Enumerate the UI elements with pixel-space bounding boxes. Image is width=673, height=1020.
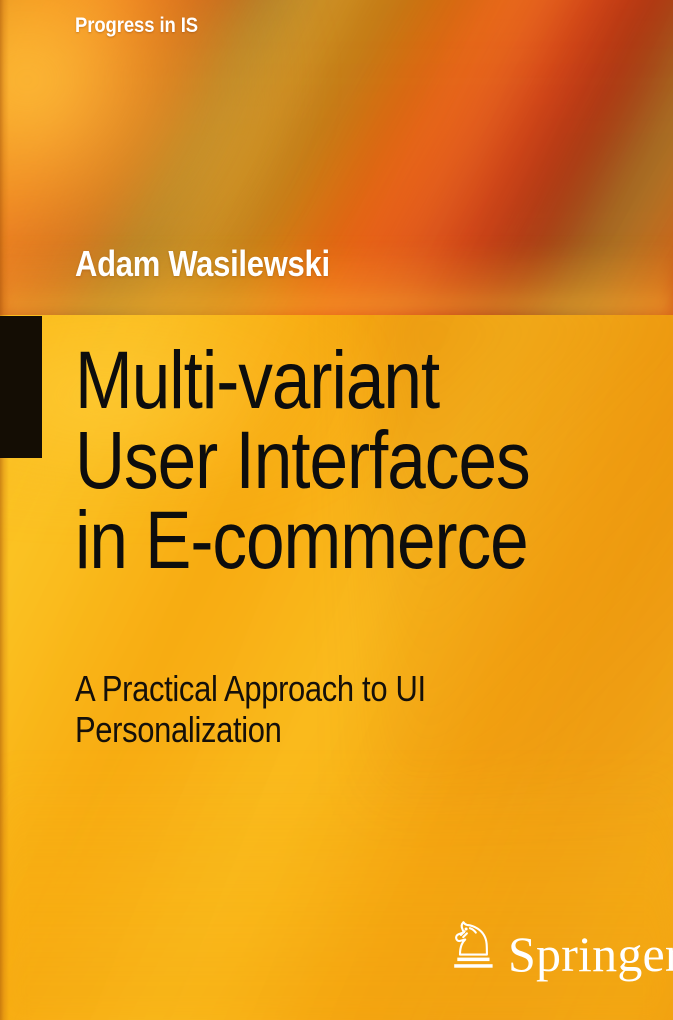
series-label: Progress in IS <box>75 14 198 38</box>
book-cover: Progress in IS Adam Wasilewski Multi-var… <box>0 0 673 1020</box>
spine-shadow-strip <box>0 0 9 1020</box>
book-title: Multi-variant User Interfaces in E-comme… <box>75 341 582 581</box>
book-title-line: in E-commerce <box>75 501 582 581</box>
publisher-logo: Springer <box>448 919 673 975</box>
book-subtitle-line: Personalization <box>75 710 557 751</box>
series-marker-block <box>0 316 42 458</box>
publisher-name: Springer <box>508 930 673 979</box>
book-title-line: Multi-variant <box>75 341 582 421</box>
author-name: Adam Wasilewski <box>75 243 330 285</box>
book-subtitle: A Practical Approach to UI Personalizati… <box>75 669 557 750</box>
book-subtitle-line: A Practical Approach to UI <box>75 669 557 710</box>
book-title-line: User Interfaces <box>75 421 582 501</box>
springer-knight-icon <box>448 919 495 975</box>
